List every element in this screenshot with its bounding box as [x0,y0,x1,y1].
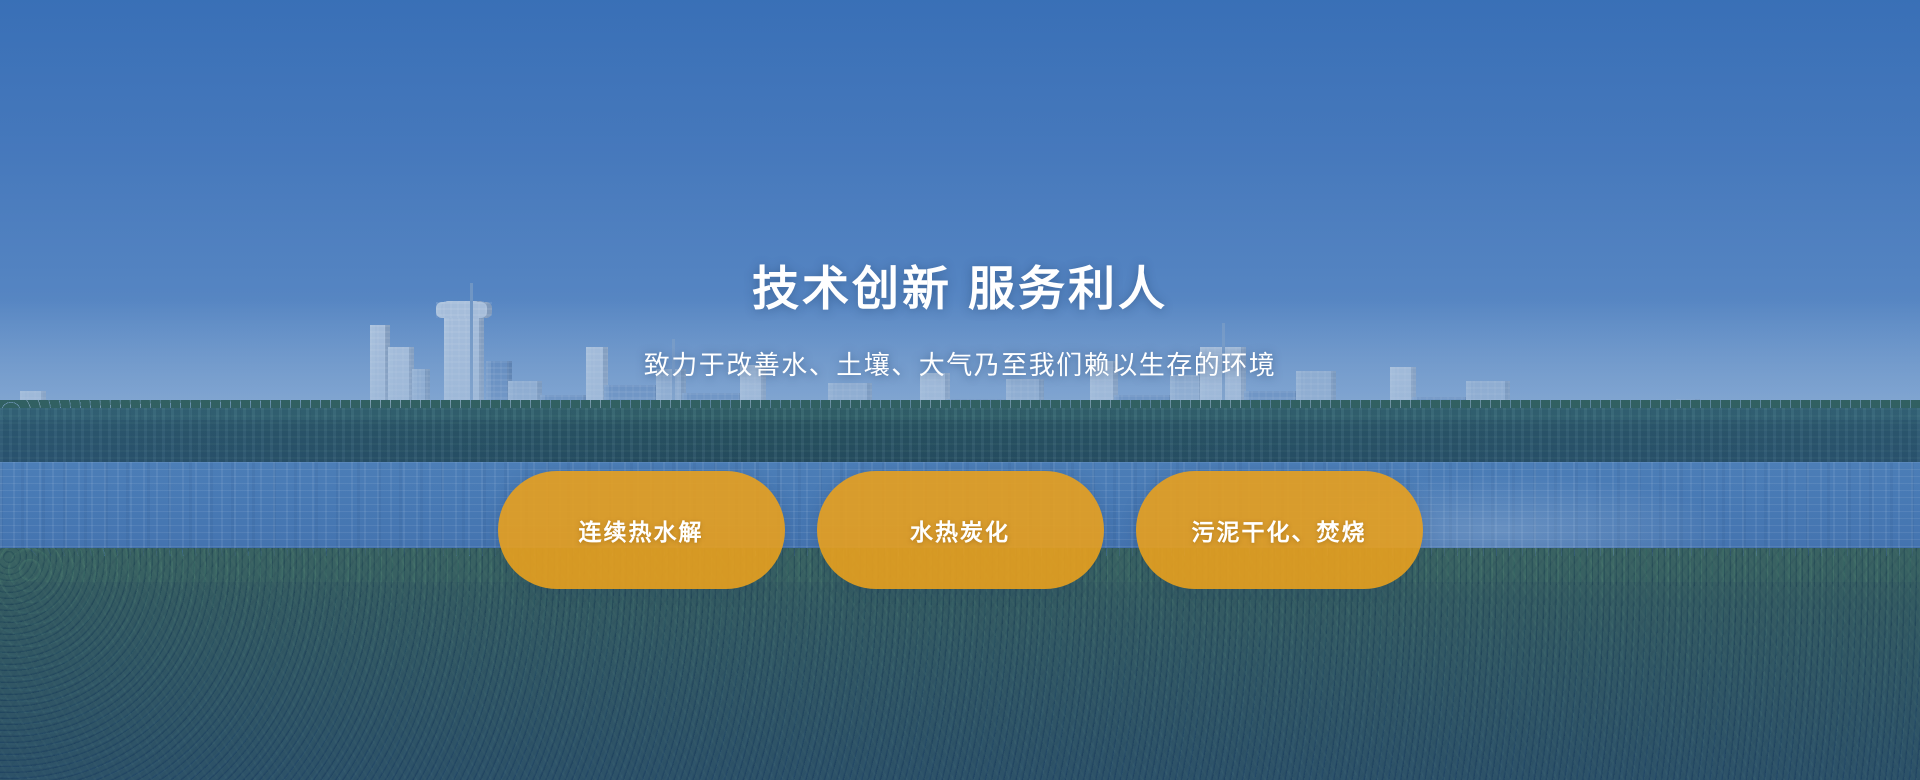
service-button-continuous-thermal-hydrolysis[interactable]: 连续热水解 [498,471,785,589]
hero-headline: 技术创新 服务利人 [0,262,1920,317]
service-button-group: 连续热水解 水热炭化 污泥干化、焚烧 [0,470,1920,590]
hero-content: 技术创新 服务利人 致力于改善水、土壤、大气乃至我们赖以生存的环境 连续热水解 … [0,0,1920,780]
service-button-sludge-drying-incineration[interactable]: 污泥干化、焚烧 [1136,471,1423,589]
hero-banner: 技术创新 服务利人 致力于改善水、土壤、大气乃至我们赖以生存的环境 连续热水解 … [0,0,1920,780]
hero-subheadline: 致力于改善水、土壤、大气乃至我们赖以生存的环境 [0,345,1920,382]
service-button-hydrothermal-carbonization[interactable]: 水热炭化 [817,471,1104,589]
